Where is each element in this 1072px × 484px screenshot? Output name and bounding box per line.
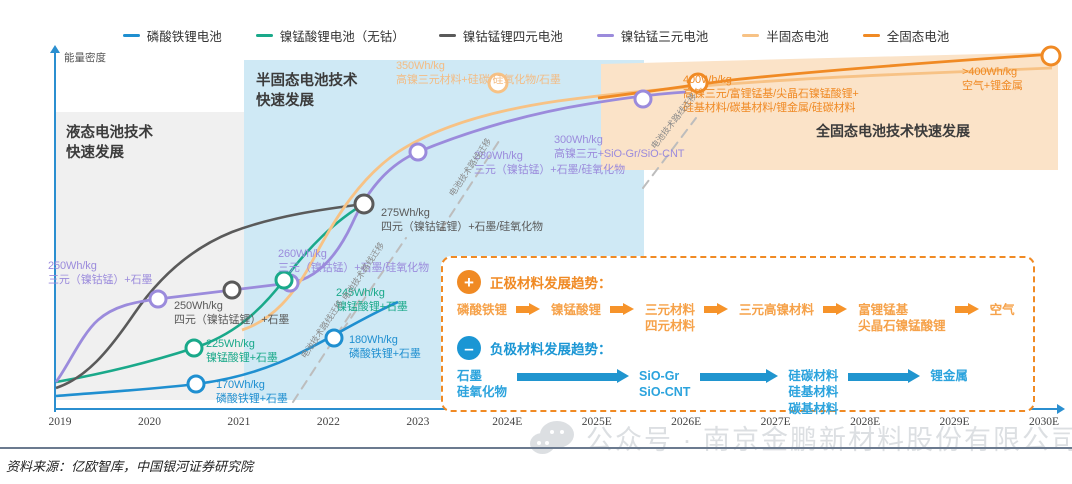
point-label-ternary-260: 260Wh/kg 三元（镍钴锰）+石墨/硅氧化物	[278, 248, 429, 276]
chain-arrow-icon	[848, 369, 920, 384]
x-tick-2030E: 2030E	[1029, 416, 1059, 428]
cathode-chain: 磷酸铁锂镍锰酸锂三元材料 四元材料三元高镍材料富锂锰基 尖晶石镍锰酸锂空气	[457, 302, 1015, 335]
marker-ternary-300	[635, 91, 651, 107]
marker-ternary-280	[410, 144, 426, 160]
chain-item: 磷酸铁锂	[457, 302, 507, 318]
point-label-solid-400: 400Wh/kg 高镍三元/富锂锰基/尖晶石镍锰酸锂+ 硅基材料/碳基材料/锂金…	[683, 74, 859, 115]
x-tick-2020: 2020	[138, 416, 161, 428]
point-label-semi-350: 350Wh/kg 高镍三元材料+硅碳/硅氧化物/石墨	[396, 60, 561, 88]
point-label-solid-over400: >400Wh/kg 空气+锂金属	[962, 66, 1023, 94]
legend-item-1[interactable]: 镍锰酸锂电池（无钴）	[256, 26, 405, 45]
legend-label: 半固态电池	[766, 26, 829, 45]
x-tick-2019: 2019	[49, 416, 72, 428]
x-tick-2022: 2022	[317, 416, 340, 428]
legend-item-2[interactable]: 镍钴锰锂四元电池	[439, 26, 563, 45]
x-tick-2023: 2023	[406, 416, 429, 428]
legend-swatch-icon	[256, 34, 273, 37]
plus-icon: +	[457, 270, 481, 294]
legend-label: 镍钴锰三元电池	[621, 26, 709, 45]
x-tick-2024E: 2024E	[492, 416, 522, 428]
legend-label: 镍钴锰锂四元电池	[463, 26, 563, 45]
x-tick-2028E: 2028E	[850, 416, 880, 428]
chain-arrow-icon	[517, 369, 629, 384]
marker-lfp-180	[326, 330, 342, 346]
minus-icon: –	[457, 336, 481, 360]
marker-quaternary-275	[355, 195, 373, 213]
x-tick-2027E: 2027E	[761, 416, 791, 428]
point-label-nmo-225: 225Wh/kg 镍锰酸锂+石墨	[206, 338, 278, 366]
x-tick-2025E: 2025E	[582, 416, 612, 428]
source-note: 资料来源：亿欧智库，中国银河证券研究院	[6, 456, 253, 475]
footer-divider	[0, 447, 1072, 449]
chain-item: 硅碳材料 硅基材料 碳基材料	[788, 368, 838, 417]
legend-swatch-icon	[742, 34, 759, 37]
chart-legend: 磷酸铁锂电池镍锰酸锂电池（无钴）镍钴锰锂四元电池镍钴锰三元电池半固态电池全固态电…	[0, 22, 1072, 48]
marker-lfp-170	[188, 376, 204, 392]
point-label-lfp-170: 170Wh/kg 磷酸铁锂+石墨	[216, 379, 288, 407]
chain-item: 富锂锰基 尖晶石镍锰酸锂	[858, 302, 946, 335]
chain-arrow-icon	[704, 303, 730, 316]
point-label-quaternary-250: 250Wh/kg 四元（镍钴锰锂）+石墨	[174, 300, 289, 328]
x-tick-2021: 2021	[227, 416, 250, 428]
chain-item: 三元高镍材料	[739, 302, 814, 318]
chain-item: 三元材料 四元材料	[645, 302, 695, 335]
chain-item: 石墨 硅氧化物	[457, 368, 507, 401]
chain-arrow-icon	[823, 303, 849, 316]
material-trend-box: + 正极材料发展趋势： 磷酸铁锂镍锰酸锂三元材料 四元材料三元高镍材料富锂锰基 …	[441, 256, 1035, 412]
anode-chain: 石墨 硅氧化物SiO-Gr SiO-CNT硅碳材料 硅基材料 碳基材料锂金属	[457, 368, 968, 417]
legend-item-3[interactable]: 镍钴锰三元电池	[597, 26, 709, 45]
marker-solid-over400	[1042, 47, 1060, 65]
marker-nmo-225	[186, 340, 202, 356]
point-label-quaternary-275: 275Wh/kg 四元（镍钴锰锂）+石墨/硅氧化物	[381, 207, 543, 235]
legend-swatch-icon	[439, 34, 456, 37]
chain-item: 镍锰酸锂	[551, 302, 601, 318]
chain-item: 锂金属	[930, 368, 968, 384]
chain-item: 空气	[990, 302, 1015, 318]
point-label-lfp-180: 180Wh/kg 磷酸铁锂+石墨	[349, 334, 421, 362]
legend-item-5[interactable]: 全固态电池	[863, 26, 950, 45]
anode-title: 负极材料发展趋势：	[490, 338, 612, 358]
chain-item: SiO-Gr SiO-CNT	[639, 368, 690, 401]
cathode-title: 正极材料发展趋势：	[490, 272, 612, 292]
legend-label: 全固态电池	[887, 26, 950, 45]
legend-item-0[interactable]: 磷酸铁锂电池	[123, 26, 222, 45]
chain-arrow-icon	[610, 303, 636, 316]
marker-ternary-250	[150, 291, 166, 307]
chain-arrow-icon	[955, 303, 981, 316]
legend-label: 镍锰酸锂电池（无钴）	[280, 26, 405, 45]
legend-label: 磷酸铁锂电池	[147, 26, 222, 45]
anode-header: – 负极材料发展趋势：	[457, 336, 612, 360]
marker-quaternary-250	[224, 282, 240, 298]
chart-page: 磷酸铁锂电池镍锰酸锂电池（无钴）镍钴锰锂四元电池镍钴锰三元电池半固态电池全固态电…	[0, 0, 1072, 484]
chain-arrow-icon	[516, 303, 542, 316]
x-axis-ticks: 201920202021202220232024E2025E2026E2027E…	[46, 416, 1058, 436]
legend-swatch-icon	[597, 34, 614, 37]
chain-arrow-icon	[700, 369, 778, 384]
x-tick-2026E: 2026E	[671, 416, 701, 428]
cathode-header: + 正极材料发展趋势：	[457, 270, 612, 294]
point-label-ternary-250: 250Wh/kg 三元（镍钴锰）+石墨	[48, 260, 152, 288]
legend-swatch-icon	[123, 34, 140, 37]
legend-item-4[interactable]: 半固态电池	[742, 26, 829, 45]
legend-swatch-icon	[863, 34, 880, 37]
x-tick-2029E: 2029E	[940, 416, 970, 428]
